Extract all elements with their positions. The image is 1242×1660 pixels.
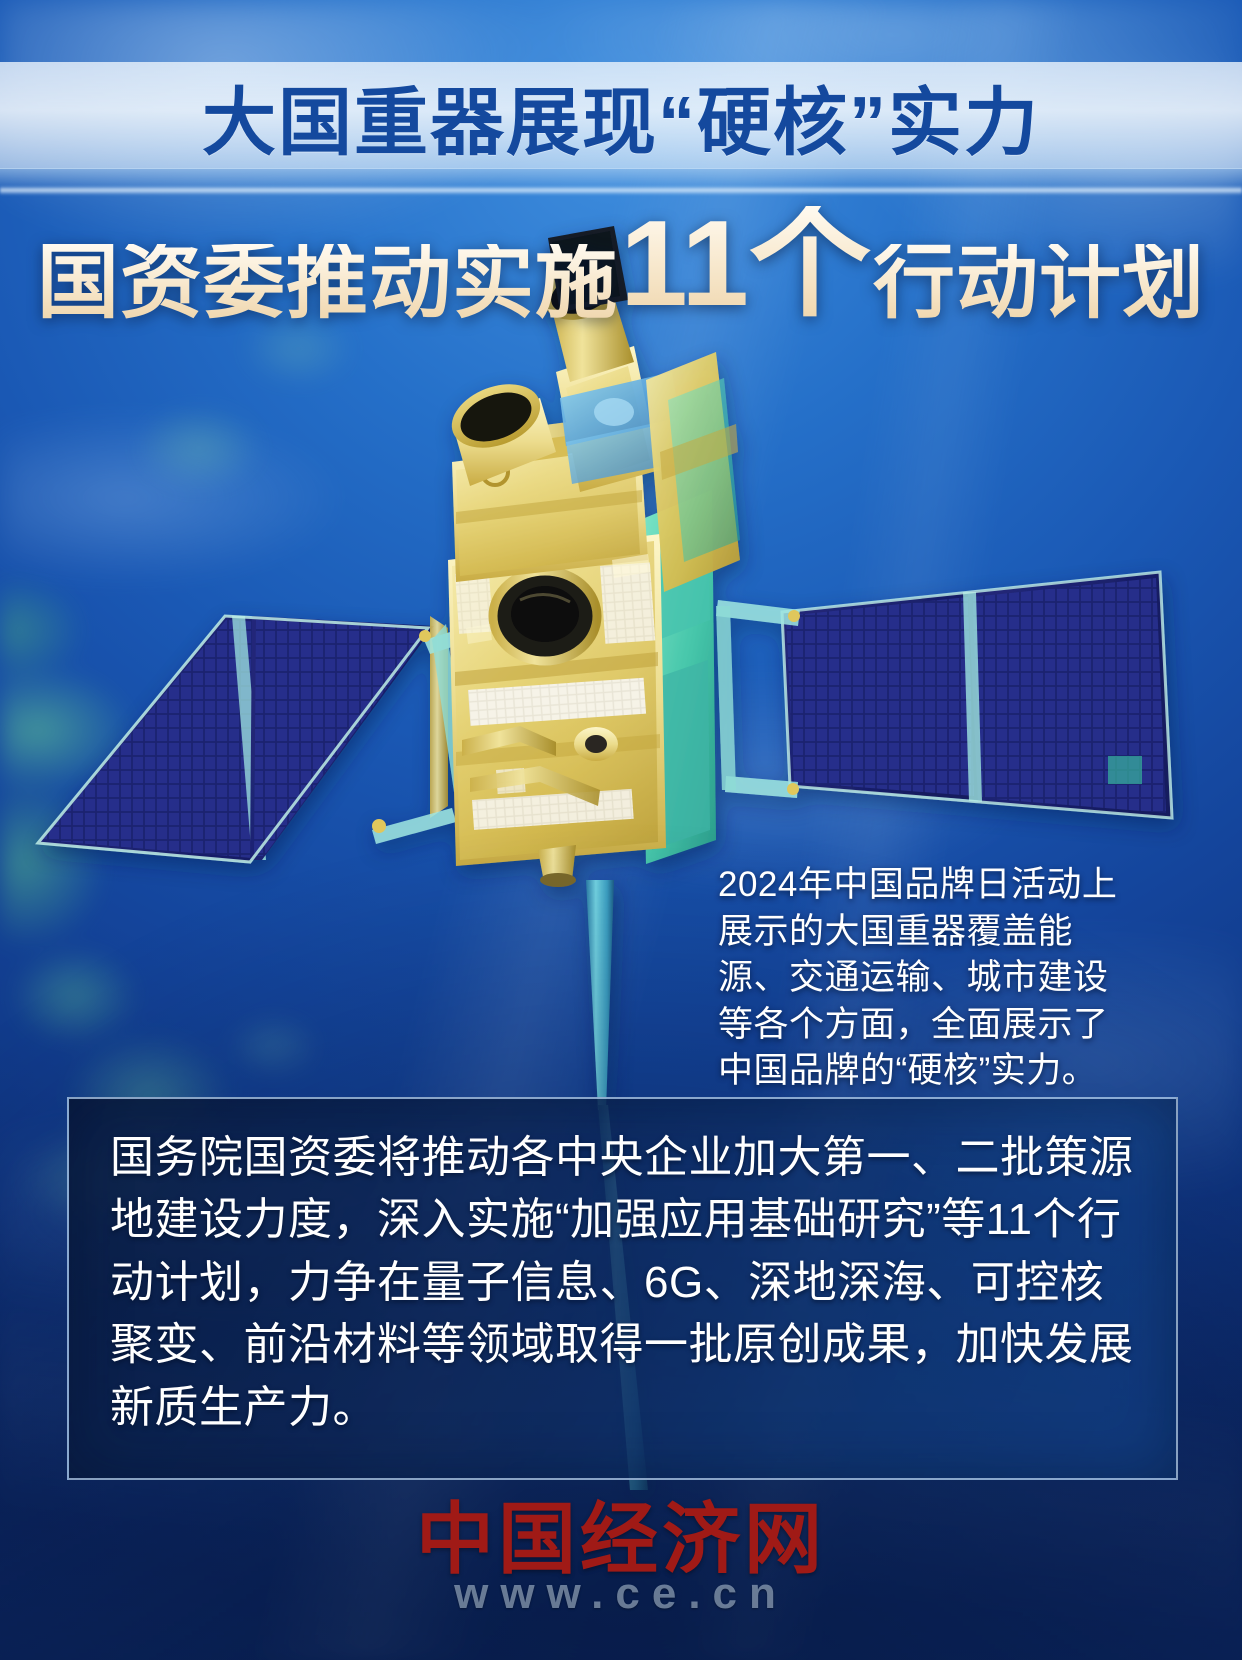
subtitle: 国资委推动实施 11个 行动计划 [0, 212, 1242, 322]
subtitle-prefix: 国资委推动实施 [37, 244, 618, 322]
subtitle-suffix: 行动计划 [873, 244, 1205, 322]
body-panel: 国务院国资委将推动各中央企业加大第一、二批策源地建设力度，深入实施“加强应用基础… [67, 1097, 1178, 1480]
site-url: www.ce.cn [0, 1568, 1242, 1620]
infographic-poster: 大国重器展现“硬核”实力 国资委推动实施 11个 行动计划 2024年中国品牌日… [0, 0, 1242, 1660]
page-title: 大国重器展现“硬核”实力 [0, 64, 1242, 168]
body-panel-text: 国务院国资委将推动各中央企业加大第一、二批策源地建设力度，深入实施“加强应用基础… [110, 1127, 1140, 1439]
side-note-text: 2024年中国品牌日活动上展示的大国重器覆盖能源、交通运输、城市建设等各个方面，… [718, 862, 1136, 1095]
title-divider-line [0, 186, 1242, 195]
subtitle-number: 11个 [618, 206, 873, 322]
